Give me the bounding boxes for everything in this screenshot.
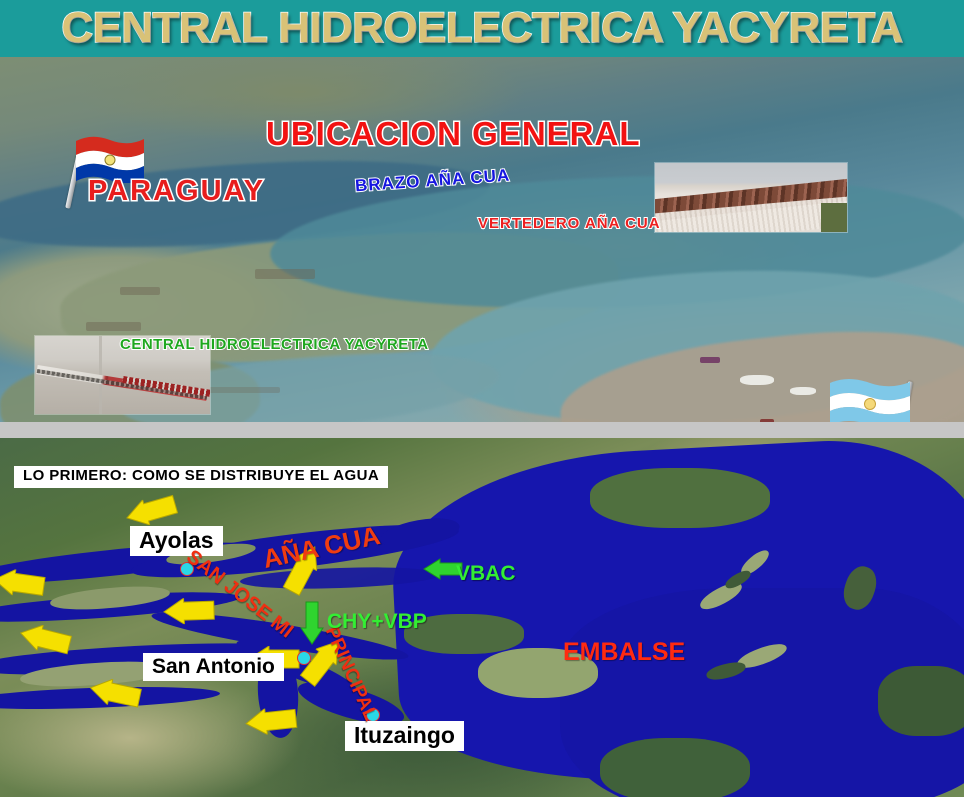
terrain-detail [790,387,816,395]
country-label-paraguay: PARAGUAY [88,175,265,208]
terrain-detail [120,287,160,295]
label-chy-vbp: CHY+VBP [327,610,427,634]
shoreline [600,738,750,797]
label-embalse: EMBALSE [563,638,685,667]
slide-root: CENTRAL HIDROELECTRICA YACYRETA [0,0,964,797]
spillway-photo-inset [655,163,847,232]
site-marker-dot [297,651,311,665]
water-distribution-panel: LO PRIMERO: COMO SE DISTRIBUYE EL AGUA A… [0,438,964,797]
section-title-ubicacion-general: UBICACION GENERAL [266,115,641,153]
argentina-flag [828,375,928,422]
terrain-detail [255,269,315,279]
label-vertedero-ana-cua: VERTEDERO AÑA CUA [478,215,661,232]
slide-header: CENTRAL HIDROELECTRICA YACYRETA [0,0,964,57]
flow-arrow-green-chy-vbp [300,600,324,646]
city-label-san-antonio: San Antonio [143,653,284,681]
caption-lo-primero: LO PRIMERO: COMO SE DISTRIBUYE EL AGUA [14,466,388,488]
terrain-detail [86,322,141,331]
label-vbac: VBAC [456,562,516,586]
shoreline [878,666,964,736]
shoreline [590,468,770,528]
spillway-bank [821,203,847,232]
city-label-ayolas: Ayolas [130,526,223,556]
ubicacion-general-panel: UBICACION GENERAL PARAGUAY BRAZO AÑA CUA… [0,57,964,422]
panel-divider [0,422,964,438]
terrain-detail [740,375,774,385]
city-label-ituzaingo: Ituzaingo [345,721,464,751]
flow-arrow-yellow [162,597,217,625]
label-central-hidroelectrica-yacyreta: CENTRAL HIDROELECTRICA YACYRETA [120,336,429,353]
page-title: CENTRAL HIDROELECTRICA YACYRETA [0,0,964,57]
terrain-detail [700,357,720,363]
